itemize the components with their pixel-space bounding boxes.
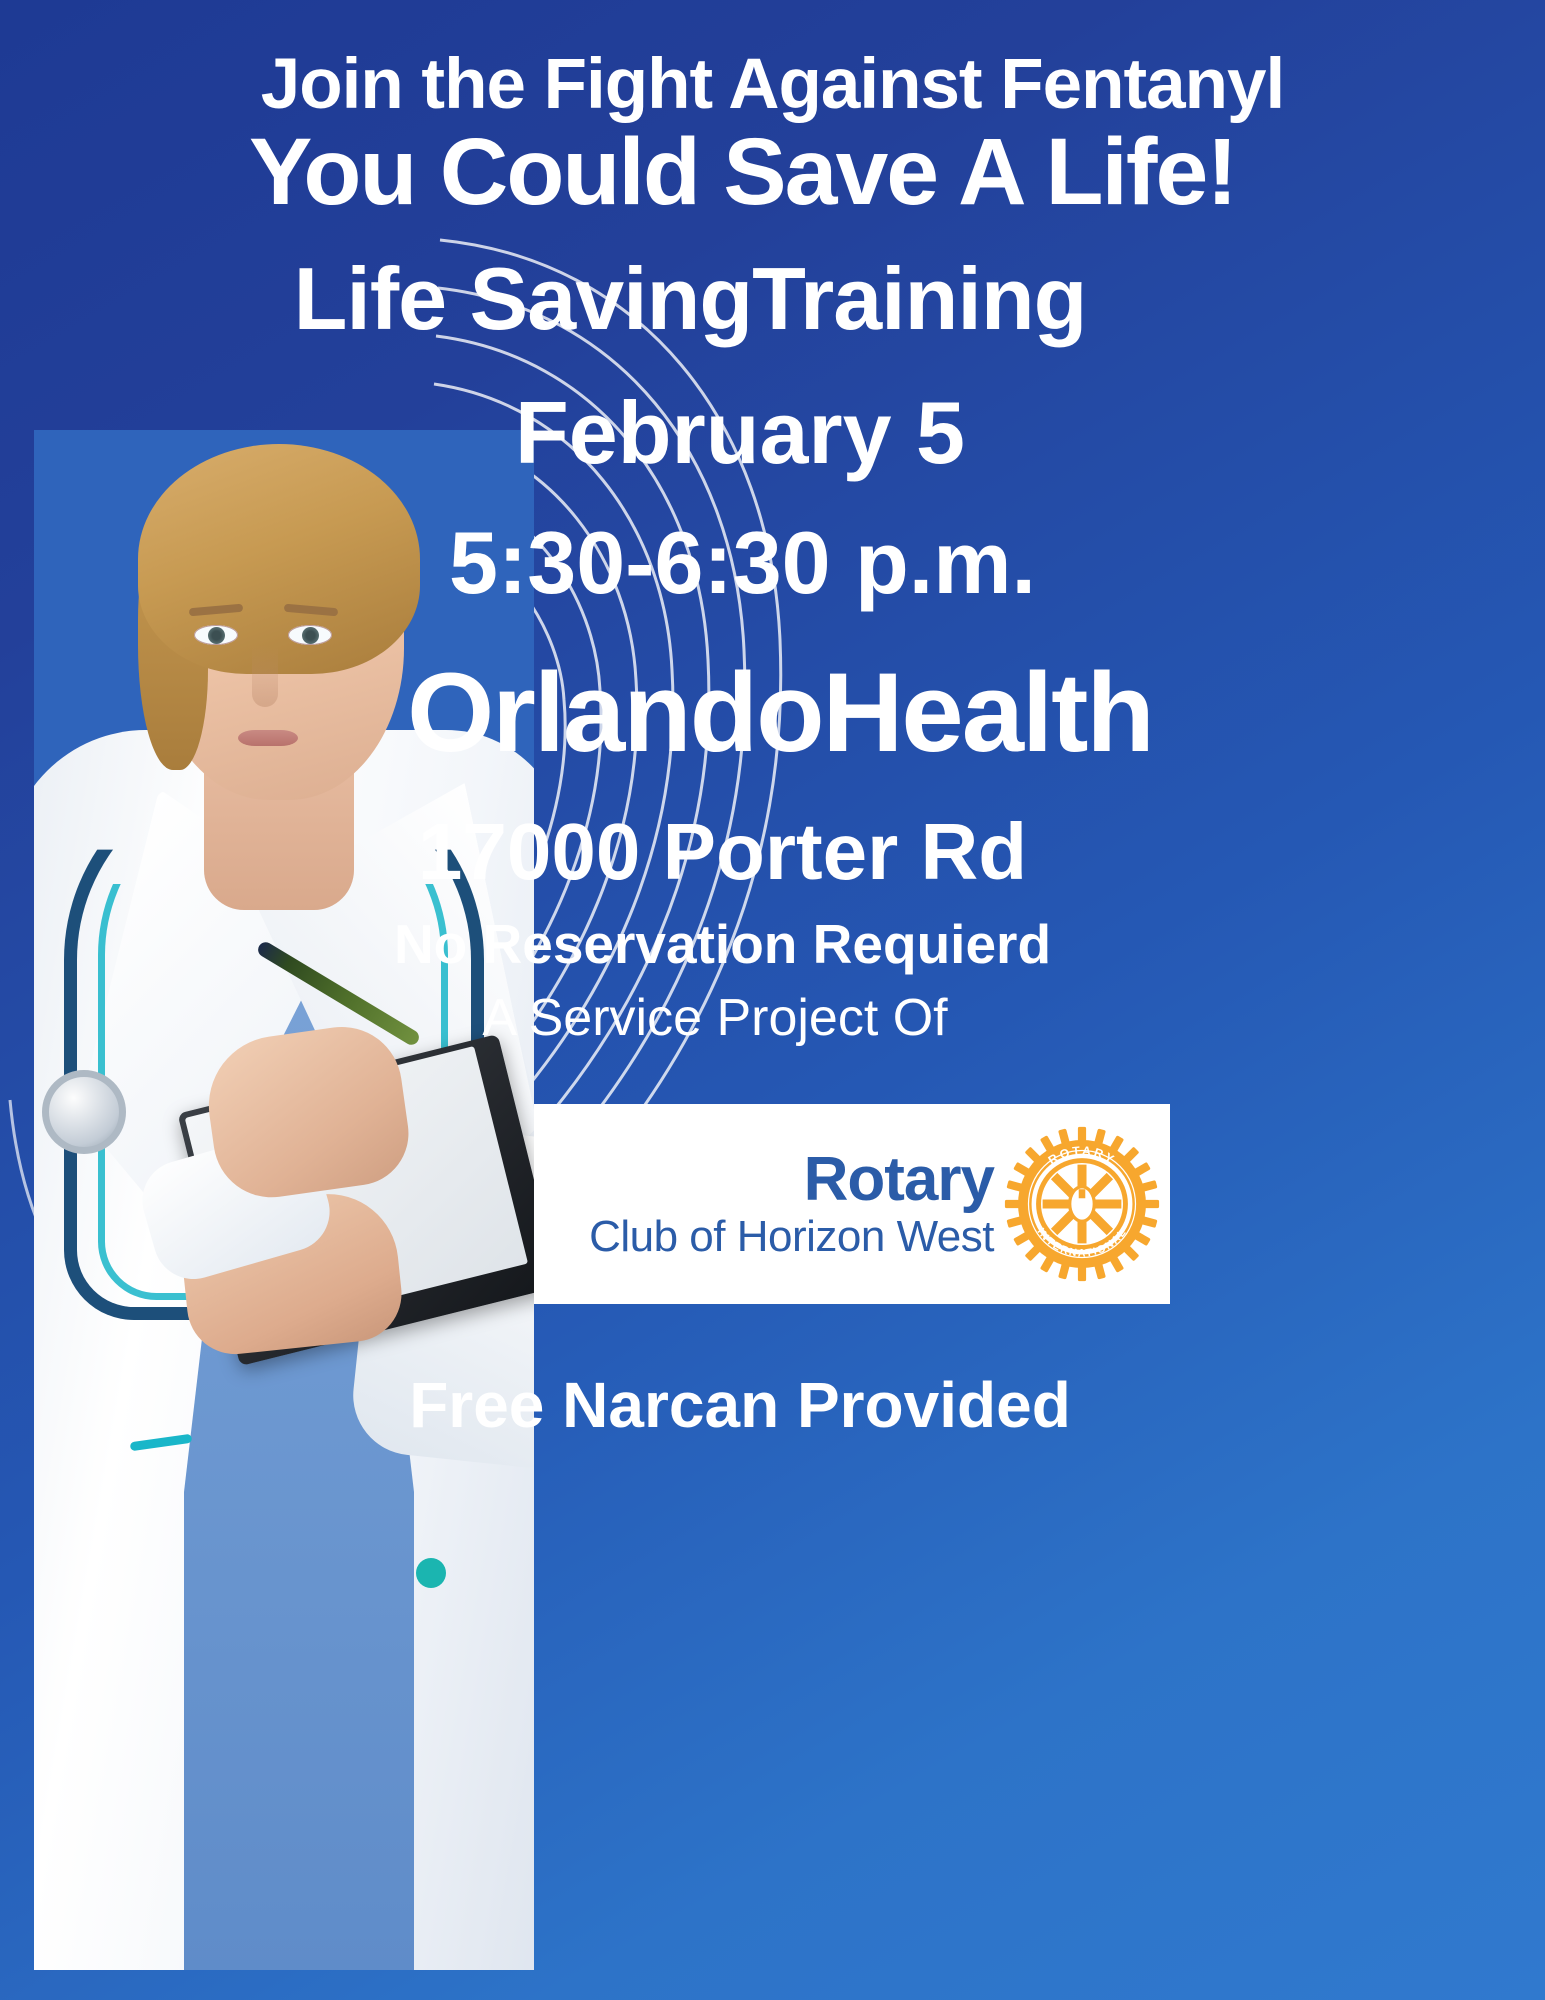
rotary-logo-card: Rotary Club of Horizon West — [534, 1104, 1170, 1304]
pocket-badge — [416, 1558, 446, 1588]
rotary-name: Rotary — [534, 1149, 994, 1211]
poster-canvas: Join the Fight Against Fentanyl You Coul… — [0, 0, 1545, 2000]
event-time: 5:30-6:30 p.m. — [0, 512, 1485, 614]
event-address: 17000 Porter Rd — [0, 806, 1445, 898]
sponsor-intro: A Service Project Of — [0, 988, 1430, 1048]
stethoscope-bell — [42, 1070, 126, 1154]
iris-right — [302, 627, 319, 644]
headline-large: You Could Save A Life! — [0, 118, 1485, 227]
rotary-wheel-icon: ROTARY INTERNATIONAL — [1000, 1116, 1164, 1292]
training-title: Life SavingTraining — [0, 248, 1380, 350]
footer-note: Free Narcan Provided — [0, 1368, 1480, 1442]
rotary-wordmark: Rotary Club of Horizon West — [534, 1149, 1000, 1259]
rotary-club-name: Club of Horizon West — [534, 1215, 994, 1259]
iris-left — [208, 627, 225, 644]
headline-small: Join the Fight Against Fentanyl — [0, 44, 1545, 125]
reservation-note: No Reservation Requierd — [0, 912, 1445, 976]
event-venue: OrlandoHealth — [0, 648, 1545, 777]
event-date: February 5 — [0, 382, 1480, 484]
